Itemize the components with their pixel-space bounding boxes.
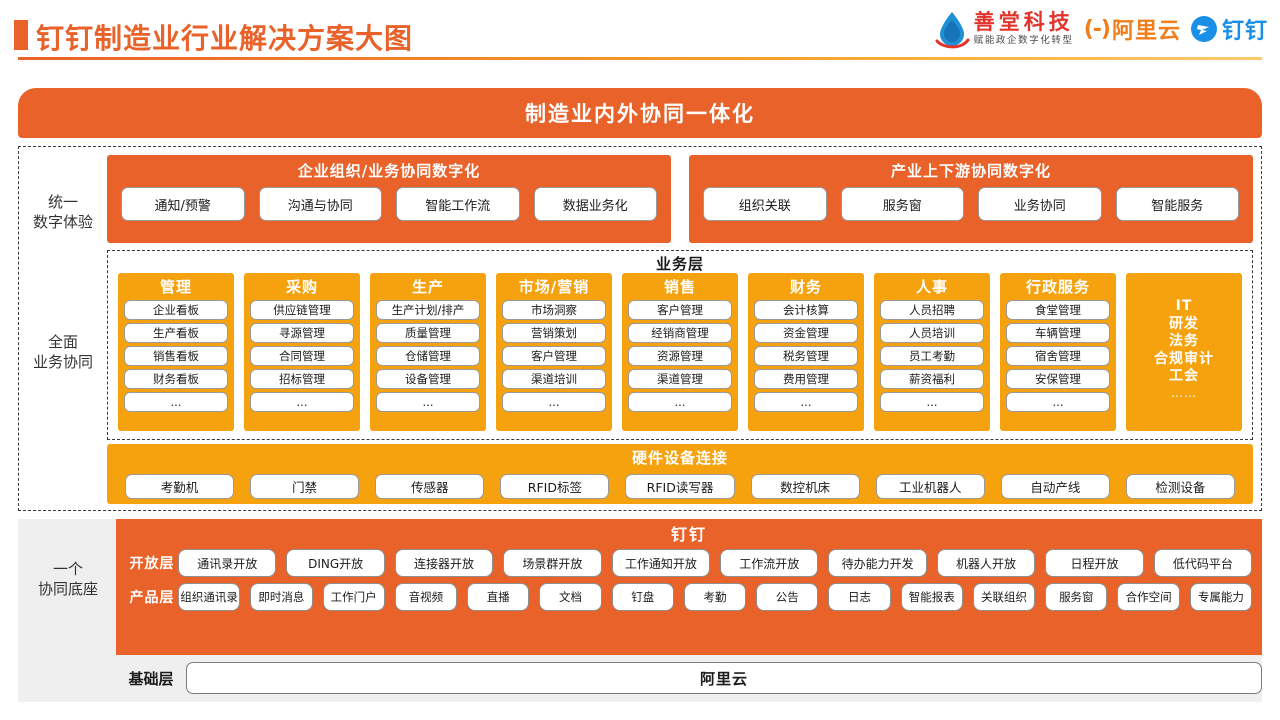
- business-item[interactable]: 设备管理: [376, 369, 480, 389]
- business-item[interactable]: ...: [754, 392, 858, 412]
- side-label-business-line2: 业务协同: [19, 352, 107, 372]
- experience-pill-group: 通知/预警 沟通与协同 智能工作流 数据业务化: [107, 187, 671, 221]
- business-column: 销售客户管理经销商管理资源管理渠道管理...: [622, 273, 738, 431]
- side-label-experience-line1: 统一: [19, 192, 107, 212]
- dingtalk-bird-icon: [1191, 16, 1217, 42]
- business-item[interactable]: 质量管理: [376, 323, 480, 343]
- dingtalk-layer-pill[interactable]: 钉盘: [612, 583, 674, 611]
- business-item[interactable]: 食堂管理: [1006, 300, 1110, 320]
- business-item[interactable]: 客户管理: [502, 346, 606, 366]
- business-item[interactable]: 宿舍管理: [1006, 346, 1110, 366]
- header-accent-bar: [14, 20, 28, 50]
- experience-pill[interactable]: 智能工作流: [396, 187, 520, 221]
- water-drop-icon: [934, 9, 970, 49]
- hardware-pill[interactable]: 考勤机: [125, 474, 234, 499]
- hardware-pill[interactable]: 传感器: [375, 474, 484, 499]
- business-layer-title: 业务层: [108, 253, 1252, 274]
- business-item[interactable]: 渠道管理: [628, 369, 732, 389]
- hardware-pill[interactable]: RFID标签: [500, 474, 609, 499]
- dingtalk-layer-pill[interactable]: 工作流开放: [720, 549, 818, 577]
- business-item[interactable]: 客户管理: [628, 300, 732, 320]
- experience-card-supplychain: 产业上下游协同数字化 组织关联 服务窗 业务协同 智能服务: [689, 155, 1253, 243]
- business-column: 市场/营销市场洞察营销策划客户管理渠道培训...: [496, 273, 612, 431]
- page-header: 钉钉制造业行业解决方案大图 善堂科技 赋能政企数字化转型 (-) 阿里云: [0, 0, 1280, 70]
- main-banner: 制造业内外协同一体化: [18, 88, 1262, 138]
- it-column-line: 研发: [1169, 316, 1199, 334]
- dingtalk-layer-pill[interactable]: 工作通知开放: [612, 549, 710, 577]
- side-label-foundation: 一个 协同底座: [20, 559, 116, 600]
- header-divider: [18, 57, 1262, 60]
- side-label-experience-line2: 数字体验: [19, 212, 107, 232]
- side-label-foundation-line2: 协同底座: [20, 579, 116, 599]
- dingtalk-layer-pill[interactable]: 公告: [756, 583, 818, 611]
- it-column-line: IT: [1176, 298, 1193, 316]
- business-item[interactable]: 市场洞察: [502, 300, 606, 320]
- dingtalk-layer-pill[interactable]: 组织通讯录: [178, 583, 240, 611]
- hardware-pill[interactable]: 门禁: [250, 474, 359, 499]
- business-item[interactable]: 资金管理: [754, 323, 858, 343]
- dingtalk-layer-label: 产品层: [126, 587, 178, 607]
- business-item[interactable]: 招标管理: [250, 369, 354, 389]
- dingtalk-layer-pill[interactable]: 直播: [467, 583, 529, 611]
- hardware-pill[interactable]: 自动产线: [1001, 474, 1110, 499]
- business-column-title: 销售: [664, 276, 696, 297]
- business-item[interactable]: 供应链管理: [250, 300, 354, 320]
- experience-pill[interactable]: 通知/预警: [121, 187, 245, 221]
- shantang-logo: 善堂科技 赋能政企数字化转型: [934, 9, 1074, 49]
- dingtalk-layer-pill[interactable]: 服务窗: [1045, 583, 1107, 611]
- experience-pill-group: 组织关联 服务窗 业务协同 智能服务: [689, 187, 1253, 221]
- experience-pill[interactable]: 沟通与协同: [259, 187, 383, 221]
- shantang-name: 善堂科技: [974, 12, 1074, 33]
- business-column: 财务会计核算资金管理税务管理费用管理...: [748, 273, 864, 431]
- aliyun-bracket-icon: (-): [1084, 17, 1110, 42]
- business-item[interactable]: 财务看板: [124, 369, 228, 389]
- dingtalk-layer-pill[interactable]: 日程开放: [1045, 549, 1143, 577]
- dingtalk-layer-pill[interactable]: 通讯录开放: [178, 549, 276, 577]
- experience-pill[interactable]: 数据业务化: [534, 187, 658, 221]
- dingtalk-layer-label: 开放层: [126, 553, 178, 573]
- dingtalk-panel: 钉钉 开放层通讯录开放DING开放连接器开放场景群开放工作通知开放工作流开放待办…: [116, 519, 1262, 655]
- business-item[interactable]: ...: [502, 392, 606, 412]
- dingtalk-layer-pill[interactable]: 连接器开放: [395, 549, 493, 577]
- business-item[interactable]: 合同管理: [250, 346, 354, 366]
- dingtalk-layer-pill[interactable]: 智能报表: [901, 583, 963, 611]
- business-columns: 管理企业看板生产看板销售看板财务看板...采购供应链管理寻源管理合同管理招标管理…: [118, 273, 1242, 431]
- business-column-title: 生产: [412, 276, 444, 297]
- dingtalk-layer-pill[interactable]: 关联组织: [973, 583, 1035, 611]
- dingtalk-layer-pill-group: 通讯录开放DING开放连接器开放场景群开放工作通知开放工作流开放待办能力开发机器…: [178, 549, 1252, 577]
- dingtalk-layer-pill[interactable]: 低代码平台: [1154, 549, 1252, 577]
- base-layer-value[interactable]: 阿里云: [186, 662, 1262, 694]
- experience-card-enterprise: 企业组织/业务协同数字化 通知/预警 沟通与协同 智能工作流 数据业务化: [107, 155, 671, 243]
- business-item[interactable]: 安保管理: [1006, 369, 1110, 389]
- business-item[interactable]: 费用管理: [754, 369, 858, 389]
- it-column-line: 工会: [1169, 368, 1199, 386]
- dingtalk-name: 钉钉: [1222, 13, 1268, 45]
- experience-pill[interactable]: 服务窗: [841, 187, 965, 221]
- dingtalk-layer-pill[interactable]: 机器人开放: [937, 549, 1035, 577]
- experience-card-title: 企业组织/业务协同数字化: [298, 160, 480, 181]
- dingtalk-layer-row: 产品层组织通讯录即时消息工作门户音视频直播文档钉盘考勤公告日志智能报表关联组织服…: [116, 583, 1262, 611]
- hardware-pill-group: 考勤机门禁传感器RFID标签RFID读写器数控机床工业机器人自动产线检测设备: [107, 474, 1253, 499]
- dingtalk-layer-pill[interactable]: 专属能力: [1190, 583, 1252, 611]
- dingtalk-layer-pill[interactable]: 合作空间: [1117, 583, 1179, 611]
- business-item[interactable]: 员工考勤: [880, 346, 984, 366]
- business-item[interactable]: 薪资福利: [880, 369, 984, 389]
- dingtalk-layer-pill-group: 组织通讯录即时消息工作门户音视频直播文档钉盘考勤公告日志智能报表关联组织服务窗合…: [178, 583, 1252, 611]
- hardware-layer: 硬件设备连接 考勤机门禁传感器RFID标签RFID读写器数控机床工业机器人自动产…: [107, 444, 1253, 504]
- experience-card-title: 产业上下游协同数字化: [891, 160, 1051, 181]
- business-column-title: 行政服务: [1026, 276, 1090, 297]
- it-column-line: 法务: [1169, 333, 1199, 351]
- business-column-title: 管理: [160, 276, 192, 297]
- business-column-title: 市场/营销: [519, 276, 589, 297]
- dingtalk-layer-pill[interactable]: 场景群开放: [503, 549, 601, 577]
- business-item[interactable]: ...: [376, 392, 480, 412]
- base-layer-row: 基础层 阿里云: [116, 662, 1262, 694]
- aliyun-name: 阿里云: [1112, 13, 1181, 45]
- side-label-business: 全面 业务协同: [19, 332, 107, 373]
- shantang-tagline: 赋能政企数字化转型: [974, 36, 1074, 46]
- business-column: 采购供应链管理寻源管理合同管理招标管理...: [244, 273, 360, 431]
- business-column-it: IT研发法务合规审计工会……: [1126, 273, 1242, 431]
- dingtalk-layer-pill[interactable]: 文档: [539, 583, 601, 611]
- hardware-pill[interactable]: 检测设备: [1126, 474, 1235, 499]
- dingtalk-layer-pill[interactable]: 日志: [828, 583, 890, 611]
- business-item[interactable]: 生产计划/排产: [376, 300, 480, 320]
- dingtalk-layer-pill[interactable]: 工作门户: [323, 583, 385, 611]
- base-layer-label: 基础层: [116, 668, 186, 689]
- business-item[interactable]: 寻源管理: [250, 323, 354, 343]
- page-title: 钉钉制造业行业解决方案大图: [36, 17, 413, 57]
- dingtalk-logo: 钉钉: [1191, 13, 1268, 45]
- dingtalk-layer-pill[interactable]: 音视频: [395, 583, 457, 611]
- business-column-title: 人事: [916, 276, 948, 297]
- business-item[interactable]: ...: [124, 392, 228, 412]
- business-item[interactable]: 资源管理: [628, 346, 732, 366]
- side-label-business-line1: 全面: [19, 332, 107, 352]
- business-item[interactable]: 会计核算: [754, 300, 858, 320]
- business-item[interactable]: 人员招聘: [880, 300, 984, 320]
- business-item[interactable]: 经销商管理: [628, 323, 732, 343]
- middle-section: 统一 数字体验 全面 业务协同 企业组织/业务协同数字化 通知/预警 沟通与协同…: [18, 146, 1262, 511]
- business-column: 管理企业看板生产看板销售看板财务看板...: [118, 273, 234, 431]
- aliyun-logo: (-) 阿里云: [1084, 13, 1181, 45]
- logo-group: 善堂科技 赋能政企数字化转型 (-) 阿里云 钉钉: [934, 5, 1268, 53]
- dingtalk-layer-pill[interactable]: 考勤: [684, 583, 746, 611]
- dingtalk-panel-title: 钉钉: [671, 521, 707, 545]
- business-item[interactable]: ...: [628, 392, 732, 412]
- business-item[interactable]: 销售看板: [124, 346, 228, 366]
- business-column-title: 财务: [790, 276, 822, 297]
- experience-pill[interactable]: 智能服务: [1116, 187, 1240, 221]
- business-item[interactable]: 企业看板: [124, 300, 228, 320]
- business-item[interactable]: 渠道培训: [502, 369, 606, 389]
- experience-row: 企业组织/业务协同数字化 通知/预警 沟通与协同 智能工作流 数据业务化 产业上…: [107, 155, 1253, 243]
- dingtalk-layer-pill[interactable]: DING开放: [286, 549, 384, 577]
- business-item[interactable]: 人员培训: [880, 323, 984, 343]
- hardware-pill[interactable]: 工业机器人: [876, 474, 985, 499]
- experience-pill[interactable]: 组织关联: [703, 187, 827, 221]
- business-item[interactable]: 营销策划: [502, 323, 606, 343]
- hardware-pill[interactable]: 数控机床: [751, 474, 860, 499]
- foundation-section: 一个 协同底座 钉钉 开放层通讯录开放DING开放连接器开放场景群开放工作通知开…: [18, 519, 1262, 702]
- business-column: 人事人员招聘人员培训员工考勤薪资福利...: [874, 273, 990, 431]
- dingtalk-layer-rows: 开放层通讯录开放DING开放连接器开放场景群开放工作通知开放工作流开放待办能力开…: [116, 549, 1262, 617]
- business-item[interactable]: ...: [1006, 392, 1110, 412]
- experience-pill[interactable]: 业务协同: [978, 187, 1102, 221]
- it-column-ellipsis: ……: [1171, 386, 1197, 400]
- business-item[interactable]: 车辆管理: [1006, 323, 1110, 343]
- business-item[interactable]: ...: [880, 392, 984, 412]
- business-column: 生产生产计划/排产质量管理仓储管理设备管理...: [370, 273, 486, 431]
- business-layer: 业务层 管理企业看板生产看板销售看板财务看板...采购供应链管理寻源管理合同管理…: [107, 250, 1253, 440]
- hardware-layer-title: 硬件设备连接: [632, 447, 728, 468]
- business-item[interactable]: 生产看板: [124, 323, 228, 343]
- side-label-foundation-line1: 一个: [20, 559, 116, 579]
- dingtalk-layer-pill[interactable]: 待办能力开发: [828, 549, 926, 577]
- dingtalk-layer-pill[interactable]: 即时消息: [250, 583, 312, 611]
- business-item[interactable]: 税务管理: [754, 346, 858, 366]
- side-label-experience: 统一 数字体验: [19, 192, 107, 233]
- business-item[interactable]: 仓储管理: [376, 346, 480, 366]
- hardware-pill[interactable]: RFID读写器: [625, 474, 734, 499]
- business-column-title: 采购: [286, 276, 318, 297]
- business-column: 行政服务食堂管理车辆管理宿舍管理安保管理...: [1000, 273, 1116, 431]
- business-item[interactable]: ...: [250, 392, 354, 412]
- it-column-line: 合规审计: [1154, 351, 1214, 369]
- dingtalk-layer-row: 开放层通讯录开放DING开放连接器开放场景群开放工作通知开放工作流开放待办能力开…: [116, 549, 1262, 577]
